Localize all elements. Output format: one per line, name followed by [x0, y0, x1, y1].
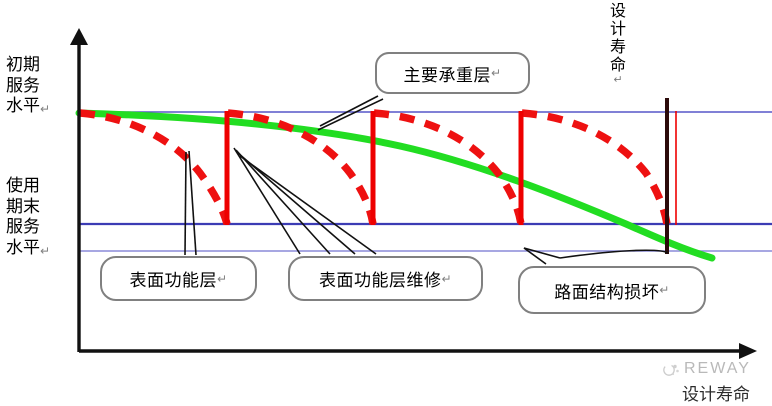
- callout-pavement-structure-damage[interactable]: 路面结构损坏↵: [518, 266, 706, 314]
- leader-surface-function-repair-d: [240, 156, 376, 254]
- decay-curve-cycle-1: [80, 113, 227, 224]
- return-mark-icon: ↵: [217, 272, 228, 286]
- x-axis-label-design-life: 设计寿命: [682, 380, 750, 405]
- callout-surface-function-repair[interactable]: 表面功能层维修↵: [288, 256, 483, 301]
- x-axis-arrowhead: [739, 343, 757, 359]
- leader-surface-function-repair-b: [236, 150, 330, 254]
- leader-main-bearing-layer-a: [320, 96, 378, 126]
- leader-surface-function-repair-a: [234, 148, 300, 254]
- return-mark-icon: ↵: [441, 272, 452, 286]
- y-axis-arrowhead: [70, 28, 88, 45]
- y-axis-label-end-line-1: 使用: [6, 176, 50, 197]
- return-mark-icon: ↵: [659, 283, 670, 297]
- callout-pavement-structure-damage-label: 路面结构损坏: [554, 278, 659, 303]
- design-life-char-1: 设: [607, 2, 629, 20]
- design-life-char-4: 命: [607, 56, 629, 74]
- y-axis-label-end-line-3: 服务: [6, 217, 50, 238]
- y-axis-label-end-line-4-text: 水平: [6, 238, 40, 258]
- return-mark-icon: ↵: [40, 103, 50, 117]
- y-axis-label-end-service-level: 使用 期末 服务 水平↵: [6, 176, 50, 259]
- callout-surface-function-layer-label: 表面功能层: [129, 266, 217, 291]
- y-axis-label-initial-line-3: 水平↵: [6, 96, 50, 117]
- callout-surface-function-layer[interactable]: 表面功能层↵: [100, 256, 257, 301]
- design-life-char-2: 计: [607, 20, 629, 38]
- return-mark-icon: ↵: [491, 66, 502, 80]
- callout-main-bearing-layer[interactable]: 主要承重层↵: [375, 52, 530, 94]
- return-mark-icon: ↵: [40, 244, 50, 258]
- y-axis-label-initial-line-2: 服务: [6, 76, 50, 97]
- figure-canvas: 初期 服务 水平↵ 使用 期末 服务 水平↵ 设 计 寿 命 ↵ 主要承重层↵ …: [0, 0, 772, 406]
- y-axis-label-initial-line-3-text: 水平: [6, 96, 40, 116]
- return-mark-icon: ↵: [607, 74, 629, 86]
- leader-surface-function-layer-b: [189, 151, 196, 255]
- green-structural-curve: [79, 113, 712, 258]
- design-life-vertical-label: 设 计 寿 命 ↵: [607, 2, 629, 87]
- y-axis-label-initial-line-1: 初期: [6, 55, 50, 76]
- y-axis-label-initial-service-level: 初期 服务 水平↵: [6, 55, 50, 117]
- design-life-char-3: 寿: [607, 38, 629, 56]
- y-axis-label-end-line-4: 水平↵: [6, 238, 50, 259]
- leader-surface-function-layer-a: [185, 152, 186, 255]
- callout-surface-function-repair-label: 表面功能层维修: [319, 266, 442, 291]
- y-axis-label-end-line-2: 期末: [6, 197, 50, 218]
- decay-curve-cycle-3: [374, 113, 521, 224]
- callout-main-bearing-layer-label: 主要承重层: [403, 61, 491, 86]
